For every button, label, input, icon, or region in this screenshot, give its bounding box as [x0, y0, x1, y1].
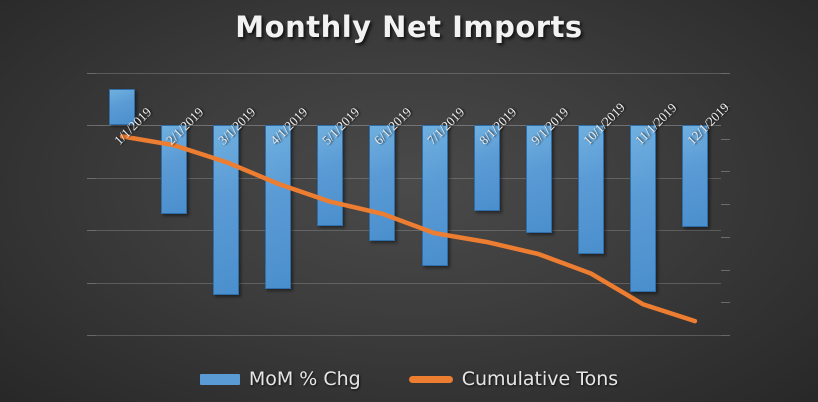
gridline — [96, 335, 721, 336]
legend-label: Cumulative Tons — [462, 368, 618, 390]
legend-item-mom-pct-chg[interactable]: MoM % Chg — [200, 368, 361, 390]
axis-tick — [721, 335, 730, 336]
legend-swatch-bar-icon — [200, 374, 240, 385]
axis-tick — [87, 125, 96, 126]
axis-tick — [87, 73, 96, 74]
axis-tick — [721, 237, 730, 238]
plot-area: 5000000-500000-1000000-1500000-2000000 2… — [96, 73, 721, 335]
legend-label: MoM % Chg — [249, 368, 361, 390]
legend-swatch-line-icon — [409, 376, 453, 383]
axis-tick — [87, 178, 96, 179]
chart-title: Monthly Net Imports — [0, 10, 818, 44]
chart-legend: MoM % Chg Cumulative Tons — [0, 368, 818, 390]
axis-tick — [721, 270, 730, 271]
axis-tick — [87, 230, 96, 231]
axis-tick — [721, 204, 730, 205]
axis-tick — [721, 302, 730, 303]
axis-tick — [721, 171, 730, 172]
axis-tick — [87, 283, 96, 284]
chart-container: Monthly Net Imports 5000000-500000-10000… — [0, 0, 818, 402]
axis-tick — [87, 335, 96, 336]
legend-item-cumulative-tons[interactable]: Cumulative Tons — [409, 368, 618, 390]
axis-tick — [721, 139, 730, 140]
axis-tick — [721, 73, 730, 74]
